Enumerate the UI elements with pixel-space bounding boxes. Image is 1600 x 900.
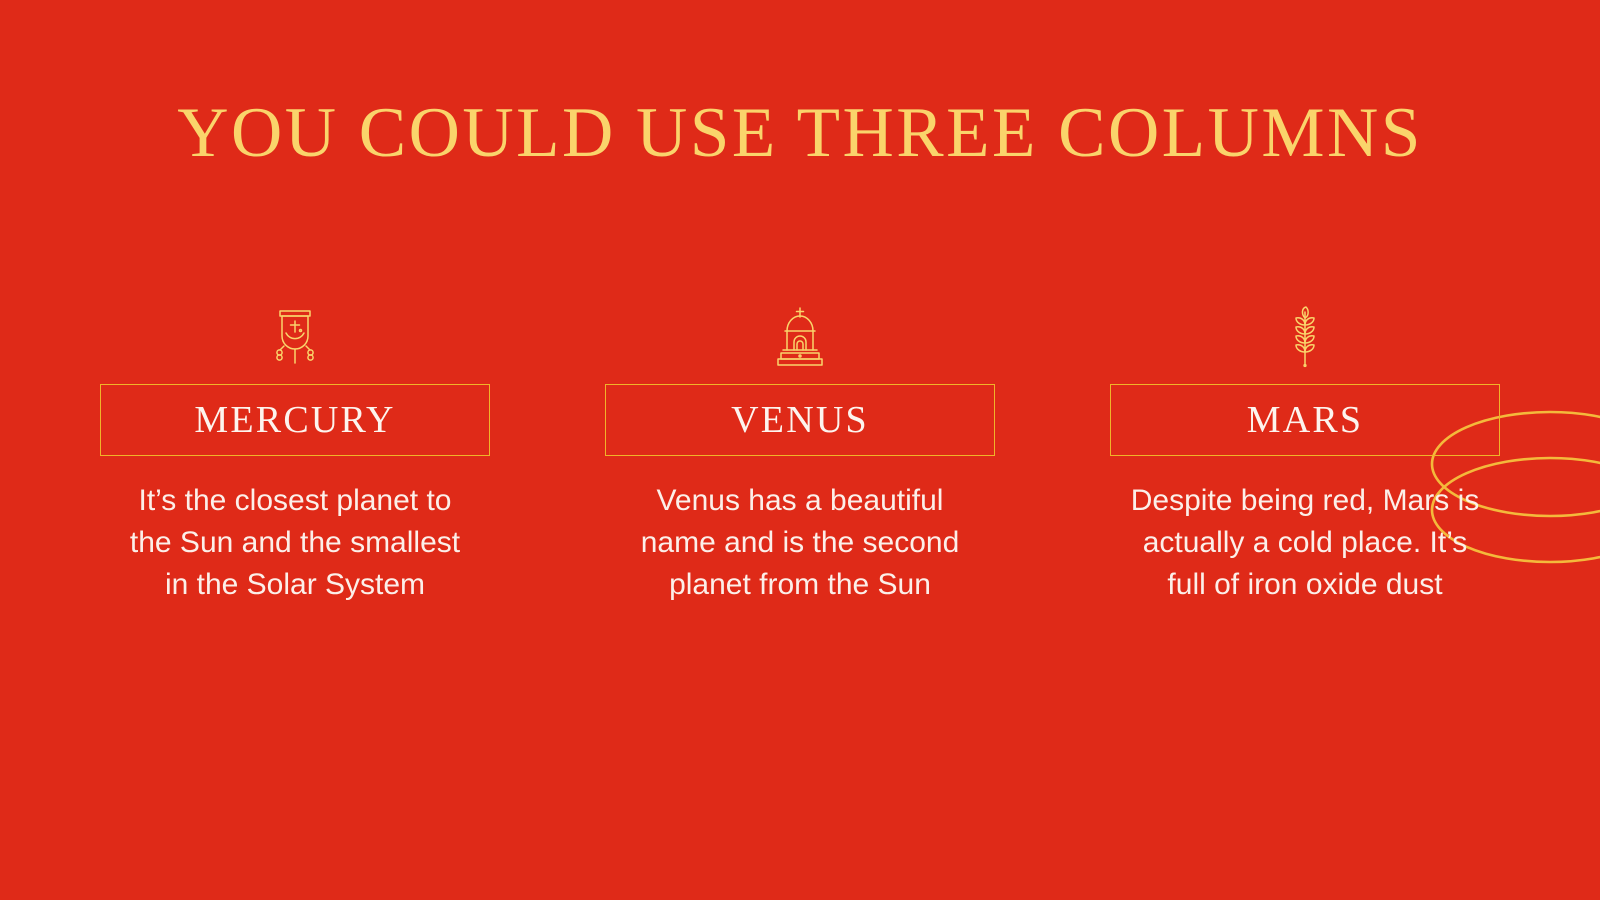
column-mercury: MERCURY It’s the closest planet to the S… [100, 306, 490, 606]
heading-box-mercury: MERCURY [100, 384, 490, 456]
column-heading: MERCURY [194, 401, 395, 439]
liturgical-banner-icon [267, 306, 323, 368]
column-mars: MARS Despite being red, Mars is actually… [1110, 306, 1500, 606]
column-heading: VENUS [731, 401, 869, 439]
three-column-group: MERCURY It’s the closest planet to the S… [100, 306, 1500, 606]
shrine-tabernacle-icon [771, 306, 829, 368]
column-venus: VENUS Venus has a beautiful name and is … [605, 306, 995, 606]
column-body-text: It’s the closest planet to the Sun and t… [119, 480, 471, 606]
column-body-text: Venus has a beautiful name and is the se… [624, 480, 976, 606]
heading-box-venus: VENUS [605, 384, 995, 456]
column-heading: MARS [1247, 401, 1364, 439]
slide-canvas: YOU COULD USE THREE COLUMNS [0, 0, 1600, 900]
heading-box-mars: MARS [1110, 384, 1500, 456]
page-title: YOU COULD USE THREE COLUMNS [0, 96, 1600, 171]
column-body-text: Despite being red, Mars is actually a co… [1129, 480, 1481, 606]
wheat-branch-icon [1288, 306, 1322, 368]
